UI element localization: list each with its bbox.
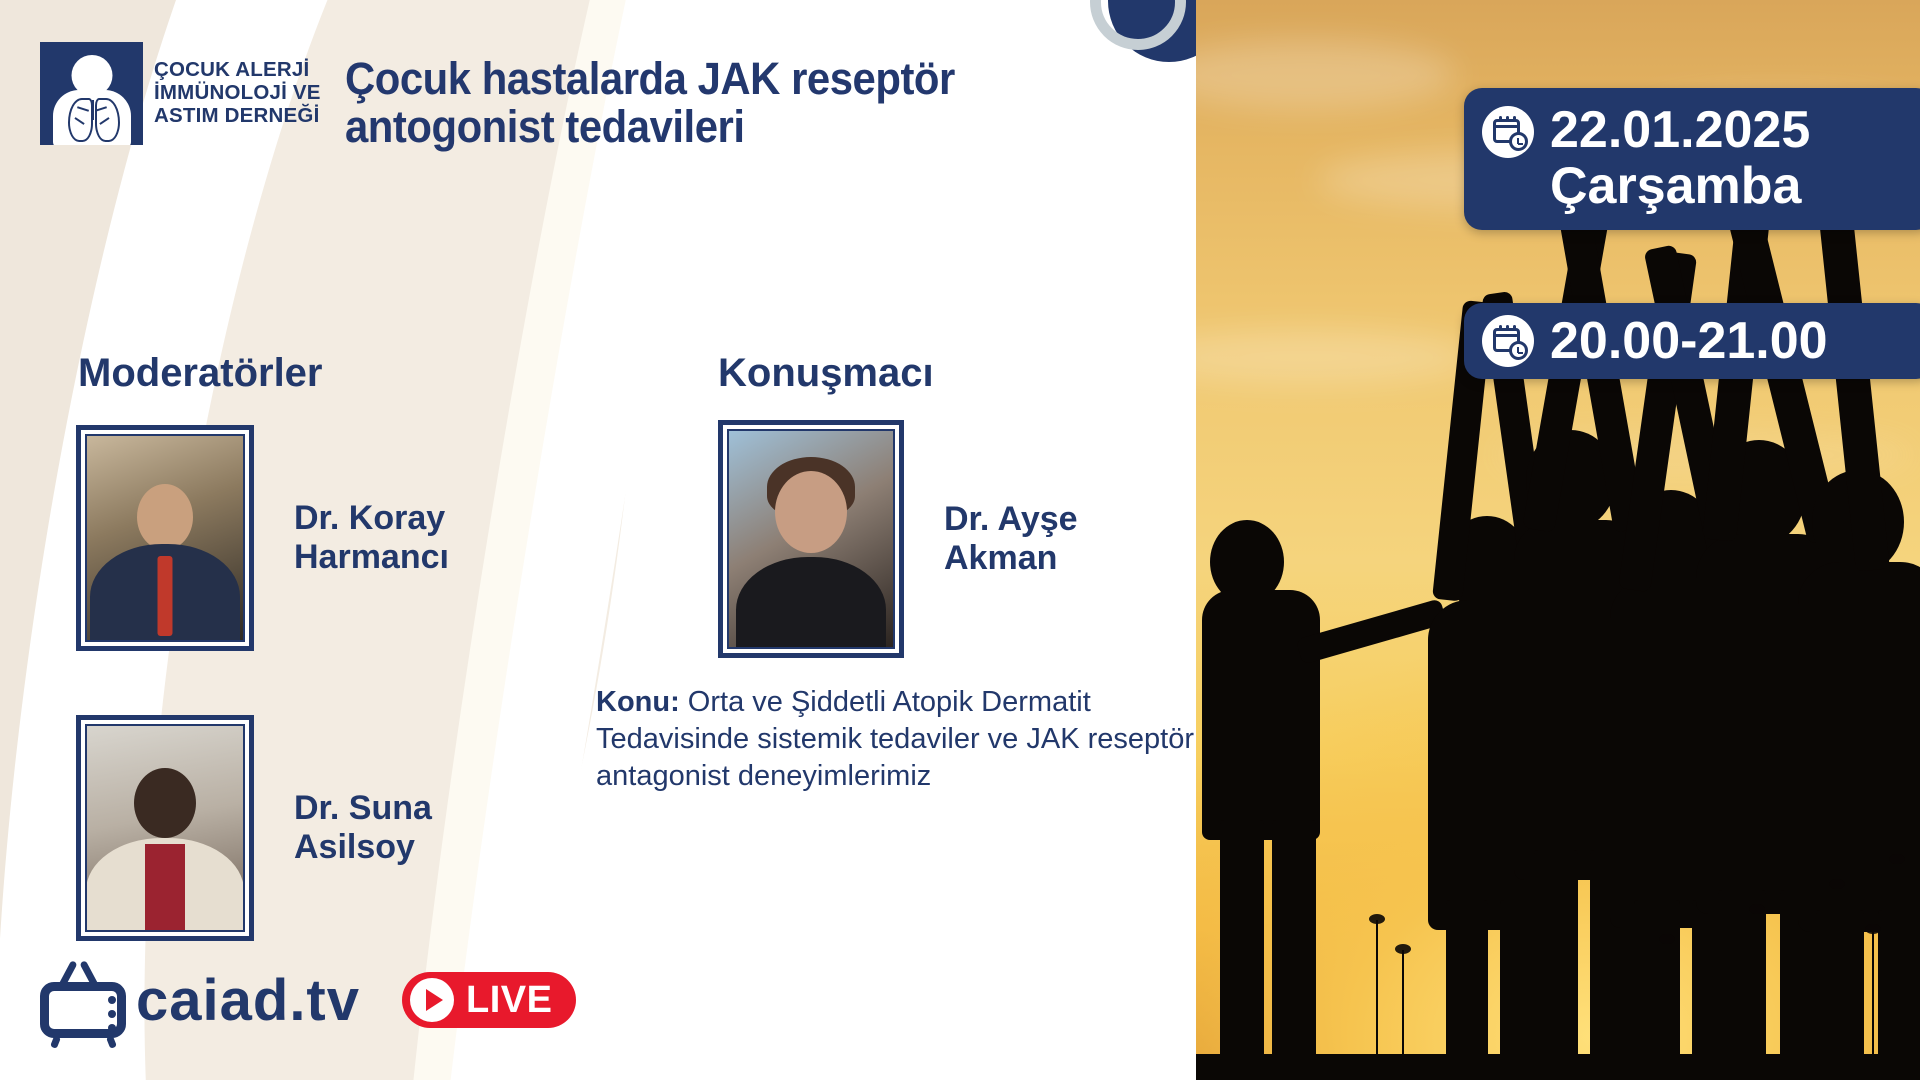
topic-label: Konu: <box>596 686 680 718</box>
person-lungs-icon <box>40 42 143 145</box>
topic-text: Orta ve Şiddetli Atopik Dermatit Tedavis… <box>596 686 1194 792</box>
play-icon <box>410 978 454 1022</box>
left-content-panel: ÇOCUK ALERJİ İMMÜNOLOJİ VE ASTIM DERNEĞİ… <box>0 0 1196 1080</box>
org-name-line-3: ASTIM DERNEĞİ <box>154 105 321 128</box>
page-title: Çocuk hastalarda JAK reseptör antogonist… <box>345 55 1108 150</box>
moderator-name: Dr. Suna Asilsoy <box>294 789 432 867</box>
ground-line <box>1196 1054 1920 1080</box>
television-icon <box>36 960 132 1040</box>
speaker-heading: Konuşmacı <box>718 351 934 396</box>
event-date: 22.01.2025 <box>1550 101 1810 159</box>
moderator-name: Dr. Koray Harmancı <box>294 499 449 577</box>
moderator-card-suna-asilsoy: Dr. Suna Asilsoy <box>76 715 432 941</box>
organization-logo: ÇOCUK ALERJİ İMMÜNOLOJİ VE ASTIM DERNEĞİ <box>40 42 321 145</box>
org-name-line-2: İMMÜNOLOJİ VE <box>154 82 321 105</box>
time-badge: 20.00-21.00 <box>1464 303 1920 379</box>
event-day: Çarşamba <box>1550 158 1810 214</box>
footer-branding: caiad.tv LIVE <box>36 960 576 1040</box>
date-badge: 22.01.2025 Çarşamba <box>1464 88 1920 230</box>
org-name-line-1: ÇOCUK ALERJİ <box>154 59 321 82</box>
portrait-suna-asilsoy <box>85 724 245 932</box>
photo-frame <box>76 715 254 941</box>
site-name[interactable]: caiad.tv <box>136 967 360 1034</box>
speaker-topic: Konu: Orta ve Şiddetli Atopik Dermatit T… <box>596 684 1196 795</box>
photo-frame <box>76 425 254 651</box>
photo-frame <box>718 420 904 658</box>
live-badge[interactable]: LIVE <box>402 972 576 1028</box>
calendar-clock-icon <box>1482 106 1534 158</box>
speaker-name: Dr. Ayşe Akman <box>944 500 1078 578</box>
event-time: 20.00-21.00 <box>1550 313 1828 369</box>
portrait-koray-harmanci <box>85 434 245 642</box>
moderators-heading: Moderatörler <box>78 351 323 396</box>
portrait-ayse-akman <box>727 429 895 649</box>
speaker-card-ayse-akman: Dr. Ayşe Akman <box>718 420 1078 658</box>
calendar-clock-icon <box>1482 315 1534 367</box>
moderator-card-koray-harmanci: Dr. Koray Harmancı <box>76 425 449 651</box>
live-label: LIVE <box>466 979 552 1022</box>
organization-name: ÇOCUK ALERJİ İMMÜNOLOJİ VE ASTIM DERNEĞİ <box>154 59 321 128</box>
